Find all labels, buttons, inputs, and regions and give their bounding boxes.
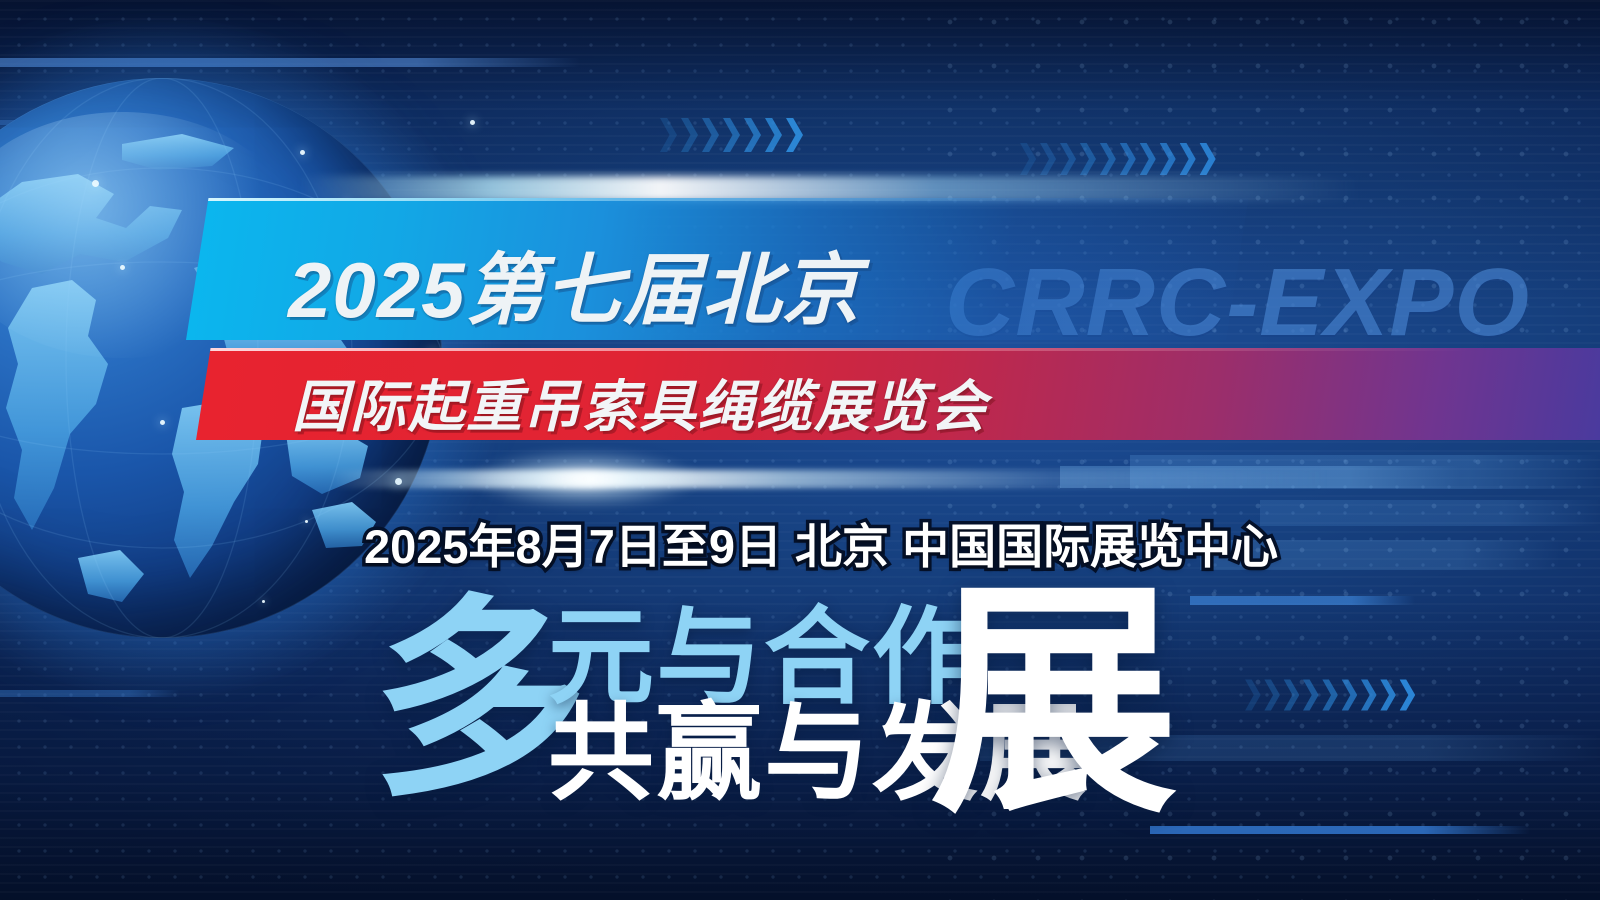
chevron-right-icon: [1100, 143, 1116, 175]
sparkle-dot: [160, 420, 165, 425]
sparkle-dot: [262, 600, 265, 603]
chevron-group-bottom-right: [1245, 679, 1415, 710]
chevron-right-icon: [1060, 143, 1076, 175]
chevron-right-icon: [702, 118, 719, 152]
sparkle-dot: [305, 520, 308, 523]
chevron-right-icon: [681, 118, 698, 152]
chevron-right-icon: [1264, 679, 1280, 710]
chevron-right-icon: [1180, 143, 1196, 175]
chevron-group-top-left: [660, 118, 803, 152]
chevron-right-icon: [1200, 143, 1216, 175]
chevron-right-icon: [1303, 679, 1319, 710]
chevron-right-icon: [1140, 143, 1156, 175]
chevron-right-icon: [1120, 143, 1136, 175]
chevron-right-icon: [1361, 679, 1377, 710]
chevron-right-icon: [1284, 679, 1300, 710]
chevron-group-top-right: [1020, 143, 1216, 175]
event-dateline: 2025年8月7日至9日 北京 中国国际展览中心: [364, 508, 1278, 577]
chevron-right-icon: [1342, 679, 1358, 710]
sparkle-dot: [300, 150, 305, 155]
chevron-right-icon: [1160, 143, 1176, 175]
chevron-right-icon: [1020, 143, 1036, 175]
sparkle-dot: [395, 478, 402, 485]
chevron-right-icon: [1380, 679, 1396, 710]
chevron-right-icon: [786, 118, 803, 152]
chevron-right-icon: [1400, 679, 1416, 710]
chevron-right-icon: [1322, 679, 1338, 710]
chevron-right-icon: [1080, 143, 1096, 175]
sparkle-dot: [92, 180, 99, 187]
promo-banner: CRRC-EXPO 2025第七届北京 国际起重吊索具绳缆展览会 2025年8月…: [0, 0, 1600, 900]
chevron-right-icon: [660, 118, 677, 152]
chevron-right-icon: [744, 118, 761, 152]
chevron-right-icon: [1245, 679, 1261, 710]
page-title: 2025第七届北京: [288, 228, 861, 340]
chevron-right-icon: [723, 118, 740, 152]
sparkle-dot: [120, 265, 125, 270]
chevron-right-icon: [1040, 143, 1056, 175]
page-subtitle: 国际起重吊索具绳缆展览会: [292, 362, 988, 443]
sparkle-dot: [470, 120, 475, 125]
chevron-right-icon: [765, 118, 782, 152]
